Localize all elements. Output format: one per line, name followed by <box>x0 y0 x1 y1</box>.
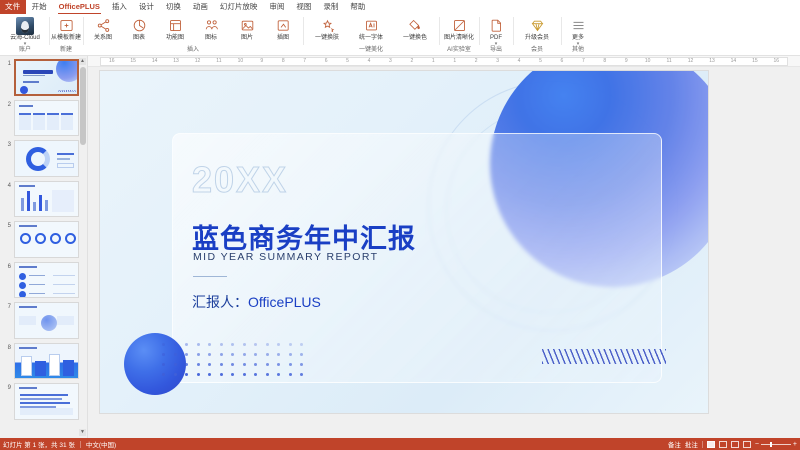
tab-view[interactable]: 视图 <box>290 0 317 14</box>
thumbnail-slide-5[interactable] <box>14 221 79 258</box>
list-item[interactable]: 8 <box>0 343 87 380</box>
image-enhance-icon <box>452 17 467 34</box>
slide-subtitle[interactable]: MID YEAR SUMMARY REPORT <box>193 251 378 263</box>
status-divider <box>80 441 81 448</box>
dot <box>185 363 188 366</box>
icon-library-icon <box>204 17 219 34</box>
thumb-number: 5 <box>2 221 11 229</box>
ruler-tick: 6 <box>315 58 336 65</box>
language-status[interactable]: 中文(中国) <box>86 439 116 449</box>
ruler-tick: 12 <box>680 58 701 65</box>
ruler-tick: 13 <box>701 58 722 65</box>
ribbon-group-account: 云海-Cloud ▾ 账户 <box>1 14 49 55</box>
ruler-tick: 11 <box>208 58 229 65</box>
picture-button[interactable]: 图片 <box>229 15 265 42</box>
dot <box>162 353 165 356</box>
more-button[interactable]: 更多 ▾ <box>563 15 593 46</box>
dot <box>277 363 280 366</box>
function-diagram-label: 功能图 <box>166 35 184 42</box>
new-from-template-button[interactable]: 从模板新建 <box>51 15 81 42</box>
dot <box>266 373 269 376</box>
list-item[interactable]: 1 <box>0 59 87 96</box>
ruler-tick: 2 <box>465 58 486 65</box>
unify-font-label: 统一字体 <box>359 35 383 42</box>
image-enhance-button[interactable]: 图片清晰化 <box>441 15 477 42</box>
ribbon-group-beautify: 一键换肤 统一字体 <box>303 14 439 55</box>
dot <box>162 343 165 346</box>
ruler-tick: 16 <box>766 58 787 65</box>
zoom-slider[interactable]: − + <box>755 441 797 448</box>
ruler-tick: 3 <box>380 58 401 65</box>
dot <box>266 363 269 366</box>
ruler-tick: 5 <box>530 58 551 65</box>
dot <box>208 343 211 346</box>
status-bar: 幻灯片 第 1 张，共 31 张 中文(中国) 备注 批注 − + <box>0 438 800 450</box>
dot <box>231 343 234 346</box>
ruler-tick: 6 <box>551 58 572 65</box>
list-item[interactable]: 4 <box>0 181 87 218</box>
dot <box>197 373 200 376</box>
upgrade-membership-label: 升级会员 <box>525 35 549 42</box>
ruler-tick: 9 <box>251 58 272 65</box>
theme-skin-label: 一键换肤 <box>315 35 339 42</box>
dot <box>243 373 246 376</box>
ruler-tick: 4 <box>358 58 379 65</box>
dot <box>197 363 200 366</box>
theme-skin-icon <box>320 17 335 34</box>
chart-button[interactable]: 图表 <box>121 15 157 42</box>
dot <box>289 363 292 366</box>
thumbnail-slide-1[interactable] <box>14 59 79 96</box>
icon-library-label: 图标 <box>205 35 217 42</box>
thumb-number: 6 <box>2 262 11 270</box>
dot <box>208 373 211 376</box>
function-diagram-button[interactable]: 功能图 <box>157 15 193 42</box>
group-label-beautify: 一键美化 <box>305 46 437 55</box>
chart-label: 图表 <box>133 35 145 42</box>
ribbon-group-export: PDF ▾ 导出 <box>479 14 513 55</box>
dot <box>197 343 200 346</box>
tab-home[interactable]: 开始 <box>26 0 53 14</box>
zoom-in-icon[interactable]: + <box>793 441 797 448</box>
notes-button[interactable]: 备注 <box>668 439 681 449</box>
ruler-tick: 15 <box>122 58 143 65</box>
ribbon-group-insert: 关系图 图表 功能图 <box>83 14 303 55</box>
group-label-insert: 插入 <box>85 46 301 55</box>
status-divider <box>702 441 703 448</box>
zoom-track[interactable] <box>761 444 791 445</box>
new-from-template-icon <box>59 17 74 34</box>
illustration-button[interactable]: 插图 <box>265 15 301 42</box>
slide-thumbnail-pane[interactable]: 1 2 <box>0 56 88 438</box>
tab-record[interactable]: 录制 <box>317 0 344 14</box>
dot <box>231 373 234 376</box>
ribbon-group-other: 更多 ▾ 其他 <box>561 14 595 55</box>
dot <box>208 353 211 356</box>
dot <box>254 363 257 366</box>
image-enhance-label: 图片清晰化 <box>442 35 476 42</box>
dot <box>277 353 280 356</box>
slide-canvas[interactable]: 20XX 蓝色商务年中汇报 MID YEAR SUMMARY REPORT 汇报… <box>100 71 708 413</box>
scroll-up-icon[interactable]: ▲ <box>79 58 86 65</box>
new-from-template-label: 从模板新建 <box>49 35 83 42</box>
author-label: 汇报人： <box>192 294 248 310</box>
ruler-tick: 12 <box>187 58 208 65</box>
dot <box>243 353 246 356</box>
dot <box>197 353 200 356</box>
thumbnail-slide-9[interactable] <box>14 383 79 420</box>
decorative-diagonal-stripes <box>542 349 666 364</box>
list-item[interactable]: 7 <box>0 302 87 339</box>
thumbnail-slide-8[interactable] <box>14 343 79 380</box>
dot <box>300 343 303 346</box>
theme-skin-button[interactable]: 一键换肤 <box>305 15 349 42</box>
dot <box>300 363 303 366</box>
thumbnail-slide-3[interactable] <box>14 140 79 177</box>
tab-help[interactable]: 帮助 <box>344 0 371 14</box>
thumb-number: 4 <box>2 181 11 189</box>
dot <box>220 363 223 366</box>
dot <box>254 343 257 346</box>
dot <box>220 343 223 346</box>
dot <box>289 373 292 376</box>
dot <box>174 373 177 376</box>
thumb-number: 1 <box>2 59 11 67</box>
group-label-membership: 会员 <box>515 46 559 55</box>
thumb-number: 2 <box>2 100 11 108</box>
function-diagram-icon <box>168 17 183 34</box>
dot <box>220 373 223 376</box>
thumbnail-slide-7[interactable] <box>14 302 79 339</box>
slide-count-status[interactable]: 幻灯片 第 1 张，共 31 张 <box>3 439 75 449</box>
dot <box>174 343 177 346</box>
relationship-diagram-label: 关系图 <box>94 35 112 42</box>
ruler-tick: 14 <box>144 58 165 65</box>
picture-icon <box>240 17 255 34</box>
author-name: OfficePLUS <box>248 294 321 310</box>
tab-transitions[interactable]: 切换 <box>160 0 187 14</box>
ruler-tick: 1 <box>444 58 465 65</box>
ruler-tick: 4 <box>508 58 529 65</box>
icon-library-button[interactable]: 图标 <box>193 15 229 42</box>
dot <box>300 373 303 376</box>
more-menu-icon <box>571 17 586 34</box>
ruler-tick: 9 <box>616 58 637 65</box>
picture-label: 图片 <box>241 35 253 42</box>
dot <box>243 343 246 346</box>
zoom-out-icon[interactable]: − <box>755 441 759 448</box>
ruler-tick: 7 <box>294 58 315 65</box>
scrollbar-thumb[interactable] <box>80 67 86 145</box>
dot <box>277 343 280 346</box>
tab-review[interactable]: 审阅 <box>263 0 290 14</box>
year-watermark: 20XX <box>192 159 288 201</box>
relationship-diagram-icon <box>96 17 111 34</box>
tab-file[interactable]: 文件 <box>0 0 26 14</box>
chart-icon <box>132 17 147 34</box>
illustration-icon <box>276 17 291 34</box>
dot <box>254 373 257 376</box>
dot <box>266 343 269 346</box>
thumb-number: 3 <box>2 140 11 148</box>
slide-editor-pane: 1615141312111098765432112345678910111213… <box>88 56 800 438</box>
thumbnail-slide-2[interactable] <box>14 100 79 137</box>
membership-diamond-icon <box>530 17 545 34</box>
ruler-tick: 7 <box>573 58 594 65</box>
ribbon-group-ailab: 图片清晰化 AI实验室 <box>439 14 479 55</box>
group-label-export: 导出 <box>481 46 511 55</box>
tab-officeplus[interactable]: OfficePLUS <box>53 0 106 14</box>
ruler-tick: 5 <box>337 58 358 65</box>
illustration-label: 插图 <box>277 35 289 42</box>
dot <box>266 353 269 356</box>
normal-view-icon[interactable] <box>707 441 715 448</box>
ribbon-toolbar: 云海-Cloud ▾ 账户 从模板新建 新建 <box>0 14 800 56</box>
pdf-export-button[interactable]: PDF ▾ <box>481 15 511 46</box>
dot <box>289 343 292 346</box>
tab-animations[interactable]: 动画 <box>187 0 214 14</box>
main-area: 1 2 <box>0 56 800 438</box>
powerpoint-window: 文件 开始 OfficePLUS 插入 设计 切换 动画 幻灯片放映 审阅 视图… <box>0 0 800 450</box>
thumbnail-scrollbar[interactable]: ▲ ▼ <box>79 58 86 436</box>
unify-font-button[interactable]: 统一字体 <box>349 15 393 42</box>
slideshow-view-icon[interactable] <box>743 441 751 448</box>
ruler-tick: 15 <box>744 58 765 65</box>
tab-slideshow[interactable]: 幻灯片放映 <box>214 0 264 14</box>
horizontal-ruler[interactable]: 1615141312111098765432112345678910111213… <box>88 56 800 67</box>
reading-view-icon[interactable] <box>731 441 739 448</box>
dot <box>185 343 188 346</box>
upgrade-membership-button[interactable]: 升级会员 <box>515 15 559 42</box>
dot <box>289 353 292 356</box>
ruler-tick: 13 <box>165 58 186 65</box>
dot <box>220 353 223 356</box>
dot <box>300 353 303 356</box>
dot <box>231 353 234 356</box>
dot <box>231 363 234 366</box>
dot <box>174 363 177 366</box>
account-avatar-icon <box>16 17 34 34</box>
dot <box>243 363 246 366</box>
ribbon-group-new: 从模板新建 新建 <box>49 14 83 55</box>
pdf-export-icon <box>489 17 504 34</box>
dot <box>174 353 177 356</box>
group-label-new: 新建 <box>51 46 81 55</box>
slide-author[interactable]: 汇报人：OfficePLUS <box>192 292 321 312</box>
ruler-tick: 16 <box>101 58 122 65</box>
dot <box>185 353 188 356</box>
slide-sorter-view-icon[interactable] <box>719 441 727 448</box>
ruler-tick: 2 <box>401 58 422 65</box>
ribbon-tabbar: 文件 开始 OfficePLUS 插入 设计 切换 动画 幻灯片放映 审阅 视图… <box>0 0 800 14</box>
list-item[interactable]: 5 <box>0 221 87 258</box>
comments-button[interactable]: 批注 <box>685 439 698 449</box>
ruler-tick: 10 <box>230 58 251 65</box>
thumb-number: 7 <box>2 302 11 310</box>
relationship-diagram-button[interactable]: 关系图 <box>85 15 121 42</box>
scroll-down-icon[interactable]: ▼ <box>79 429 86 436</box>
title-divider <box>193 276 227 277</box>
tab-design[interactable]: 设计 <box>133 0 160 14</box>
slide-canvas-wrap: 20XX 蓝色商务年中汇报 MID YEAR SUMMARY REPORT 汇报… <box>88 67 800 438</box>
list-item[interactable]: 3 <box>0 140 87 177</box>
recolor-icon <box>408 17 423 34</box>
recolor-button[interactable]: 一键换色 <box>393 15 437 42</box>
thumbnail-slide-4[interactable] <box>14 181 79 218</box>
ruler-tick: 8 <box>273 58 294 65</box>
ribbon-group-membership: 升级会员 会员 <box>513 14 561 55</box>
group-label-account: 账户 <box>3 46 47 55</box>
thumb-number: 8 <box>2 343 11 351</box>
zoom-knob[interactable] <box>770 442 772 447</box>
unify-font-icon <box>364 17 379 34</box>
thumb-number: 9 <box>2 383 11 391</box>
account-button[interactable]: 云海-Cloud ▾ <box>3 15 47 46</box>
decorative-dot-grid <box>162 343 322 389</box>
tab-insert[interactable]: 插入 <box>106 0 133 14</box>
dot <box>208 363 211 366</box>
list-item[interactable]: 2 <box>0 100 87 137</box>
dot <box>162 363 165 366</box>
ruler-tick: 1 <box>423 58 444 65</box>
recolor-label: 一键换色 <box>403 35 427 42</box>
dot <box>185 373 188 376</box>
dot <box>162 373 165 376</box>
ruler-tick: 14 <box>723 58 744 65</box>
group-label-other: 其他 <box>563 46 593 55</box>
ruler-tick: 10 <box>637 58 658 65</box>
ruler-tick: 11 <box>658 58 679 65</box>
group-label-ailab: AI实验室 <box>441 46 477 55</box>
dot <box>277 373 280 376</box>
list-item[interactable]: 9 <box>0 383 87 420</box>
dot <box>254 353 257 356</box>
ruler-tick: 8 <box>594 58 615 65</box>
list-item[interactable]: 6 <box>0 262 87 299</box>
ruler-tick: 3 <box>487 58 508 65</box>
thumbnail-slide-6[interactable] <box>14 262 79 299</box>
